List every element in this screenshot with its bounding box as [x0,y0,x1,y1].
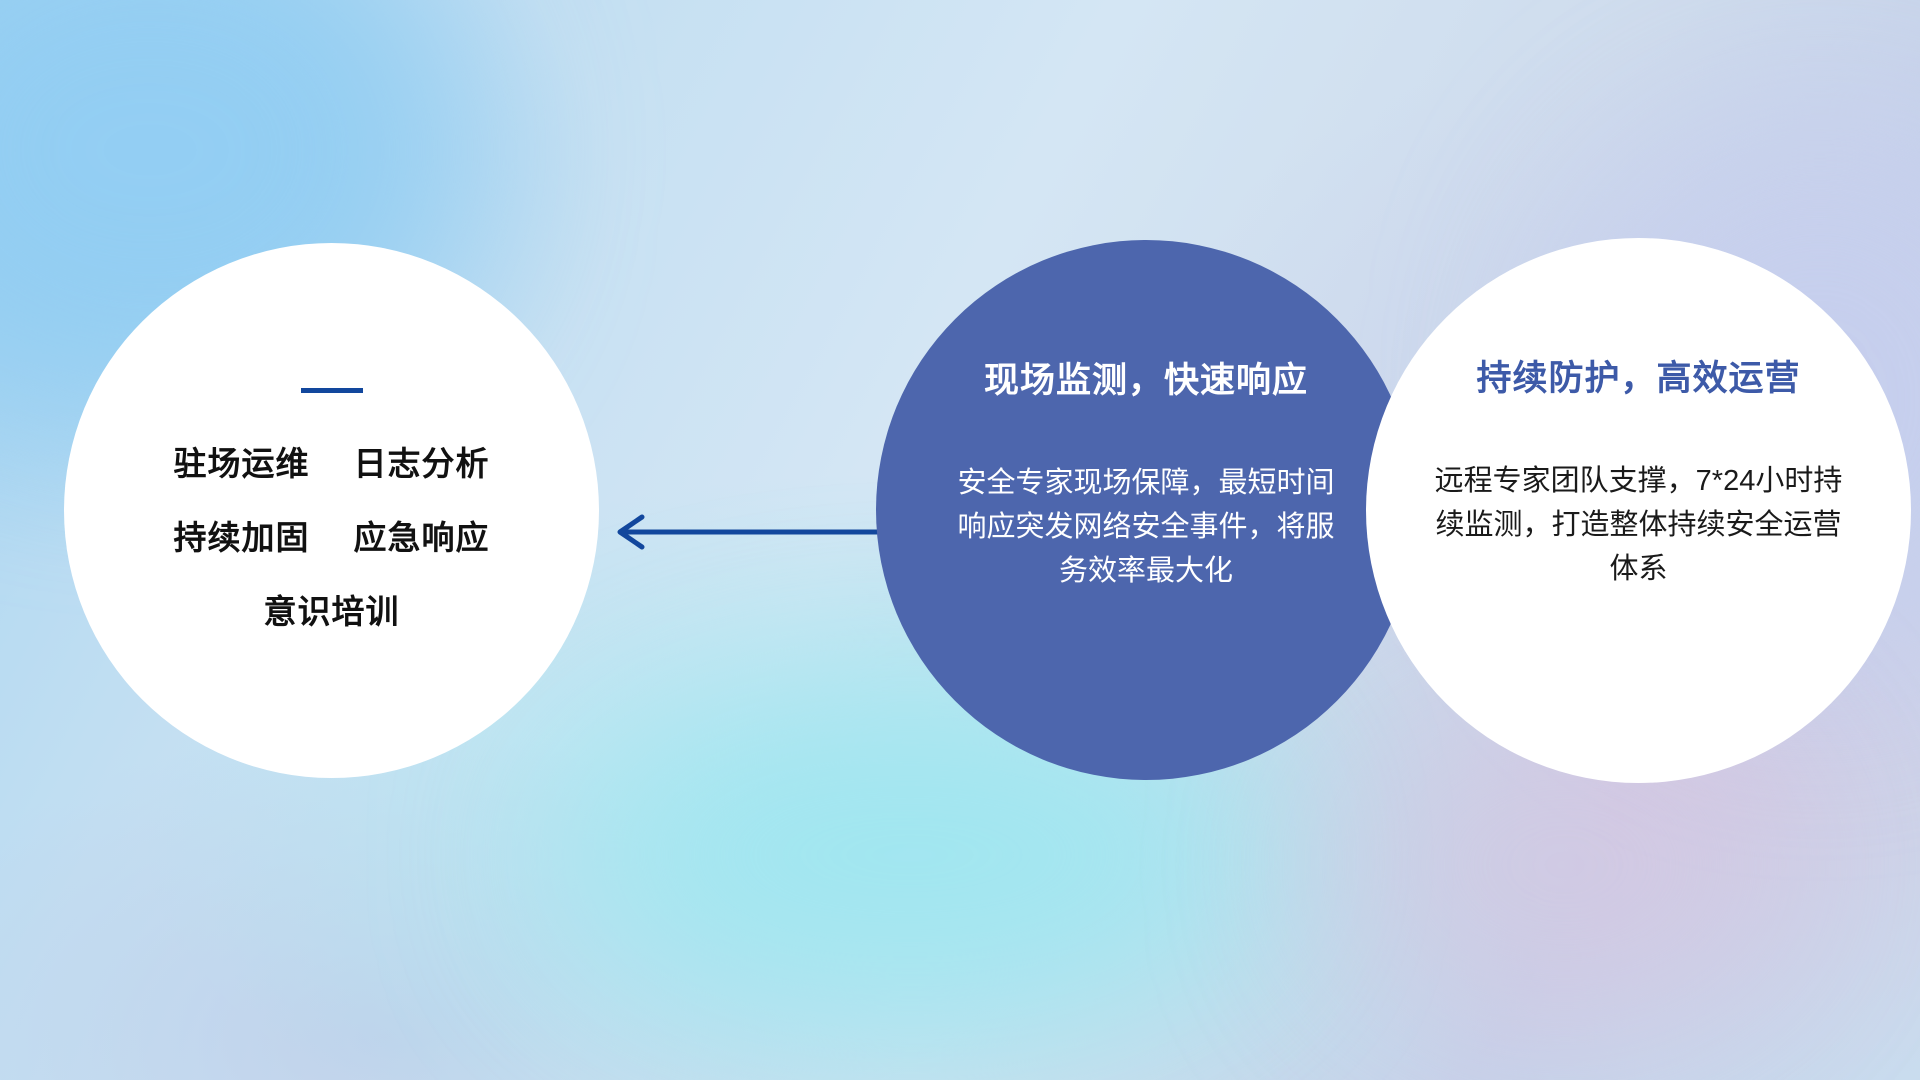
remote-operations-circle[interactable]: 持续防护，高效运营 远程专家团队支撑，7*24小时持续监测，打造整体持续安全运营… [1366,238,1911,783]
onsite-body: 安全专家现场保障，最短时间响应突发网络安全事件，将服务效率最大化 [946,461,1346,593]
onsite-title: 现场监测，快速响应 [984,352,1308,403]
service-row: 驻场运维 日志分析 [174,437,490,485]
service-item[interactable]: 意识培训 [264,585,400,633]
remote-body: 远程专家团队支撑，7*24小时持续监测，打造整体持续安全运营体系 [1429,459,1849,591]
service-item[interactable]: 日志分析 [354,437,490,485]
service-item[interactable]: 持续加固 [174,511,310,559]
service-row: 持续加固 应急响应 [174,511,490,559]
remote-title: 持续防护，高效运营 [1476,350,1800,401]
accent-dash-icon [301,388,363,393]
services-circle[interactable]: 驻场运维 日志分析 持续加固 应急响应 意识培训 [64,243,599,778]
onsite-monitoring-circle[interactable]: 现场监测，快速响应 安全专家现场保障，最短时间响应突发网络安全事件，将服务效率最… [876,240,1416,780]
service-row: 意识培训 [264,585,400,633]
service-item[interactable]: 应急响应 [354,511,490,559]
service-list: 驻场运维 日志分析 持续加固 应急响应 意识培训 [174,437,490,633]
slide-canvas: 驻场运维 日志分析 持续加固 应急响应 意识培训 现场监测，快速响应 安全专家现… [0,0,1920,1080]
service-item[interactable]: 驻场运维 [174,437,310,485]
flow-arrow-icon [600,512,890,552]
